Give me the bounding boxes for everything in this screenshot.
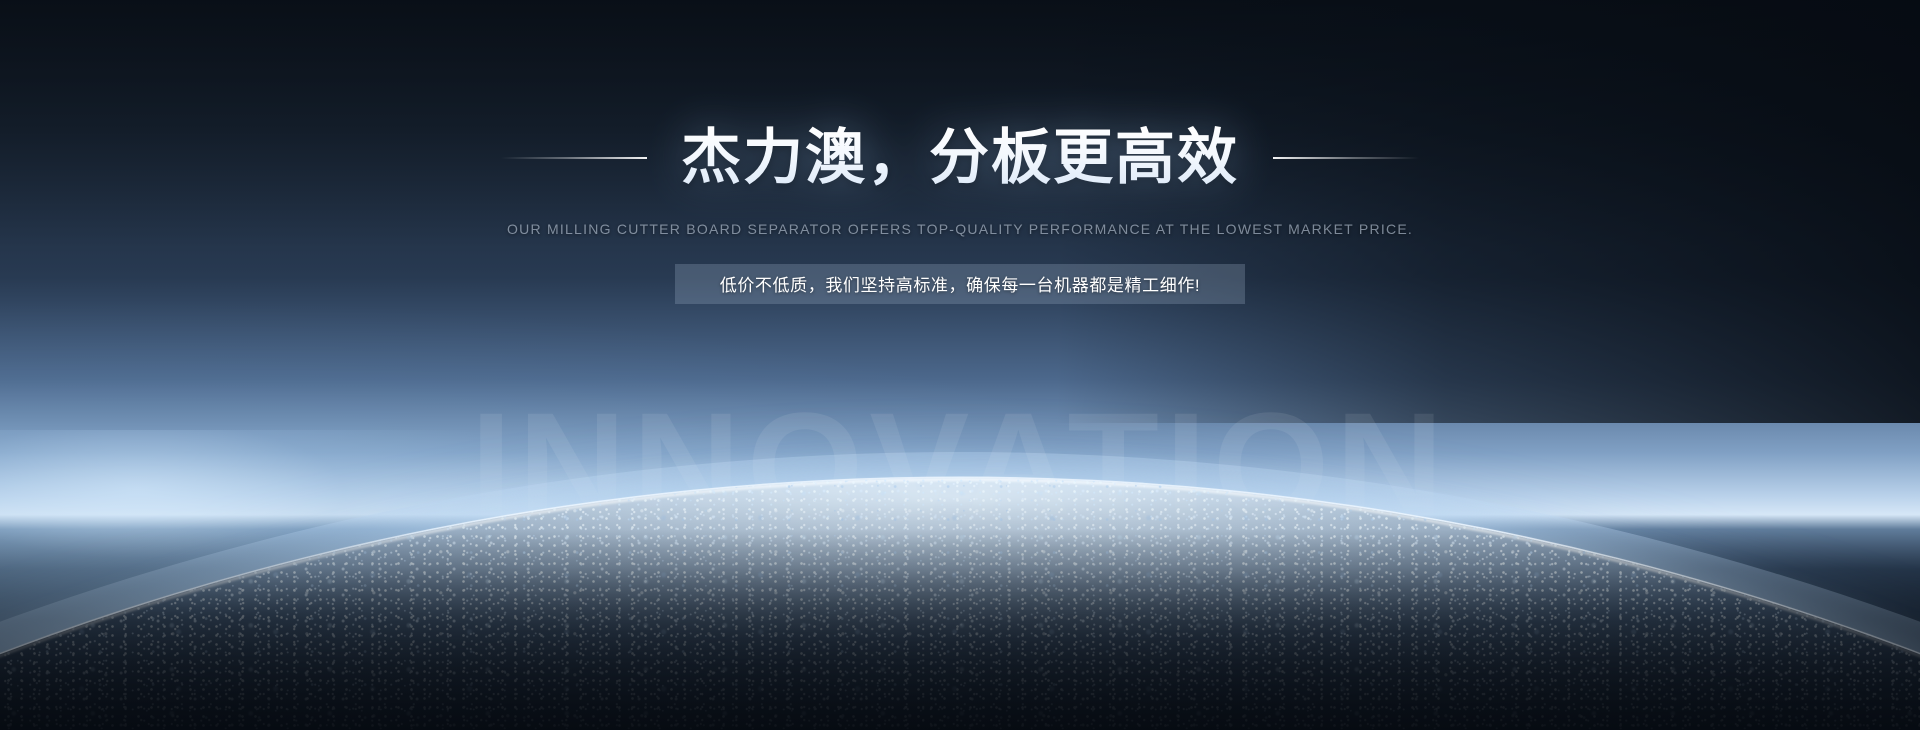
hero-banner: INNOVATION 杰力澳，分板更高效 OUR MILLING CUTTER …: [0, 0, 1920, 730]
hero-content: 杰力澳，分板更高效 OUR MILLING CUTTER BOARD SEPAR…: [0, 0, 1920, 304]
hero-tagline-bar: 低价不低质，我们坚持高标准，确保每一台机器都是精工细作!: [675, 264, 1245, 304]
divider-line-left: [501, 157, 647, 159]
hero-subtitle: OUR MILLING CUTTER BOARD SEPARATOR OFFER…: [0, 221, 1920, 237]
tagline-wrapper: 低价不低质，我们坚持高标准，确保每一台机器都是精工细作!: [0, 264, 1920, 304]
earth-limb: [0, 478, 1920, 730]
headline-row: 杰力澳，分板更高效: [0, 126, 1920, 191]
divider-line-right: [1273, 157, 1419, 159]
hero-headline: 杰力澳，分板更高效: [681, 126, 1239, 191]
